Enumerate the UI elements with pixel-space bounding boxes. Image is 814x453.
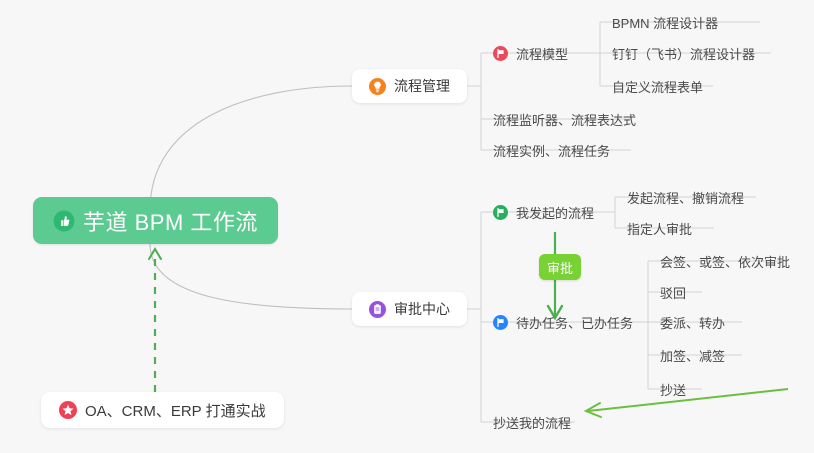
green-dashed-arrow xyxy=(149,249,161,392)
node-todo-done-tasks[interactable]: 待办任务、已办任务 xyxy=(493,309,633,335)
node-my-initiated-flow[interactable]: 我发起的流程 xyxy=(493,199,594,225)
leaf-designated-approver[interactable]: 指定人审批 xyxy=(621,215,698,242)
branch-label-process-management: 流程管理 xyxy=(394,76,450,96)
leaf-carbon-copy[interactable]: 抄送 xyxy=(654,376,692,403)
branch-node-process-management[interactable]: 流程管理 xyxy=(352,69,467,103)
leaf-dingtalk-feishu-designer[interactable]: 钉钉（飞书）流程设计器 xyxy=(606,40,761,67)
thumbs-up-icon xyxy=(53,210,75,232)
branch-label-approval-center: 审批中心 xyxy=(394,299,450,319)
leaf-custom-process-form[interactable]: 自定义流程表单 xyxy=(606,73,709,100)
leaf-label-carbon-copy: 抄送 xyxy=(660,380,686,399)
lightbulb-icon xyxy=(369,78,386,95)
root-label: 芋道 BPM 工作流 xyxy=(83,205,258,237)
leaf-delegate-transfer[interactable]: 委派、转办 xyxy=(654,309,731,336)
label-my-initiated-flow: 我发起的流程 xyxy=(516,203,594,222)
label-todo-done-tasks: 待办任务、已办任务 xyxy=(516,313,633,332)
flag-icon xyxy=(493,46,508,61)
leaf-countersign-orsign-sequential[interactable]: 会签、或签、依次审批 xyxy=(654,248,796,275)
wire-root-to-process-management xyxy=(150,86,352,210)
leaf-start-cancel-flow[interactable]: 发起流程、撤销流程 xyxy=(621,184,750,211)
branch-node-approval-center[interactable]: 审批中心 xyxy=(352,292,467,326)
node-process-model[interactable]: 流程模型 xyxy=(493,40,568,66)
leaf-label-dingtalk-feishu-designer: 钉钉（飞书）流程设计器 xyxy=(612,44,755,63)
flag-icon xyxy=(493,315,508,330)
leaf-label-bpmn-designer: BPMN 流程设计器 xyxy=(612,13,718,32)
aside-label-oa-crm-erp: OA、CRM、ERP 打通实战 xyxy=(85,400,266,421)
leaf-cc-to-me-flow[interactable]: 抄送我的流程 xyxy=(487,409,577,436)
leaf-label-countersign-orsign-sequential: 会签、或签、依次审批 xyxy=(660,252,790,271)
leaf-label-add-remove-sign: 加签、减签 xyxy=(660,346,725,365)
approval-edge-badge[interactable]: 审批 xyxy=(539,254,581,280)
leaf-label-reject: 驳回 xyxy=(660,283,686,302)
mindmap-canvas: 芋道 BPM 工作流 流程管理 流程模型 BPMN 流程设计器 钉钉（飞书）流程 xyxy=(0,0,814,453)
leaf-reject[interactable]: 驳回 xyxy=(654,279,692,306)
leaf-add-remove-sign[interactable]: 加签、减签 xyxy=(654,342,731,369)
leaf-label-designated-approver: 指定人审批 xyxy=(627,219,692,238)
approval-edge-badge-label: 审批 xyxy=(547,258,573,277)
leaf-label-custom-process-form: 自定义流程表单 xyxy=(612,77,703,96)
clipboard-icon xyxy=(369,301,386,318)
leaf-bpmn-designer[interactable]: BPMN 流程设计器 xyxy=(606,9,724,36)
root-node[interactable]: 芋道 BPM 工作流 xyxy=(33,197,278,244)
leaf-process-listener-expression[interactable]: 流程监听器、流程表达式 xyxy=(487,106,642,133)
leaf-process-instance-task[interactable]: 流程实例、流程任务 xyxy=(487,137,616,164)
leaf-label-start-cancel-flow: 发起流程、撤销流程 xyxy=(627,188,744,207)
wire-root-to-approval-center xyxy=(150,244,352,309)
leaf-label-process-instance-task: 流程实例、流程任务 xyxy=(493,141,610,160)
flag-icon xyxy=(493,205,508,220)
leaf-label-delegate-transfer: 委派、转办 xyxy=(660,313,725,332)
leaf-label-cc-to-me-flow: 抄送我的流程 xyxy=(493,413,571,432)
star-icon xyxy=(59,401,77,419)
aside-node-oa-crm-erp[interactable]: OA、CRM、ERP 打通实战 xyxy=(41,392,284,428)
label-process-model: 流程模型 xyxy=(516,44,568,63)
leaf-label-process-listener-expression: 流程监听器、流程表达式 xyxy=(493,110,636,129)
